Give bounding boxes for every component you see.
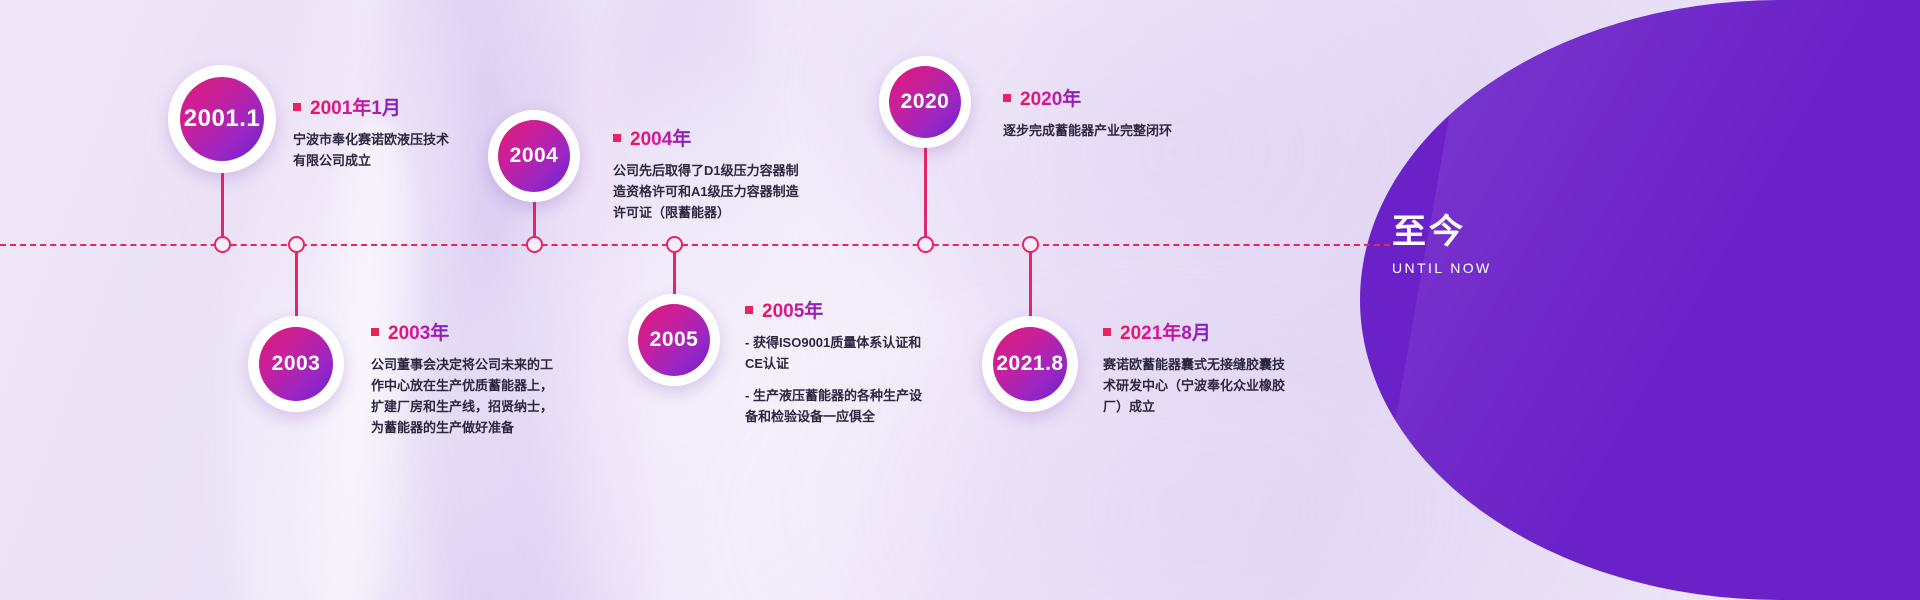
entry-paragraph: 赛诺欧蓄能器囊式无接缝胶囊技术研发中心（宁波奉化众业橡胶厂）成立: [1103, 354, 1293, 417]
entry-body: - 获得ISO9001质量体系认证和CE认证 - 生产液压蓄能器的各种生产设备和…: [745, 332, 933, 427]
entry-title: 2003年: [388, 318, 449, 345]
entry-header: 2003年: [371, 318, 553, 345]
entry-header: 2001年1月: [293, 93, 455, 120]
background-ribbon: [329, 0, 690, 600]
stem-2021: [1029, 248, 1032, 324]
square-bullet-icon: [371, 328, 379, 336]
entry-2004: 2004年 公司先后取得了D1级压力容器制造资格许可和A1级压力容器制造许可证（…: [613, 124, 803, 223]
entry-paragraph: - 生产液压蓄能器的各种生产设备和检验设备一应俱全: [745, 385, 933, 427]
axis-node-2021[interactable]: [1022, 236, 1039, 253]
year-bubble-label: 2021.8: [993, 327, 1067, 401]
square-bullet-icon: [745, 306, 753, 314]
axis-node-2005[interactable]: [666, 236, 683, 253]
entry-2020: 2020年 逐步完成蓄能器产业完整闭环: [1003, 84, 1263, 141]
entry-header: 2021年8月: [1103, 318, 1293, 345]
axis-node-2004[interactable]: [526, 236, 543, 253]
year-bubble-label: 2005: [638, 304, 710, 376]
square-bullet-icon: [293, 103, 301, 111]
entry-header: 2020年: [1003, 84, 1263, 111]
entry-2005: 2005年 - 获得ISO9001质量体系认证和CE认证 - 生产液压蓄能器的各…: [745, 296, 933, 427]
timeline-infographic: 至今 UNTIL NOW 2001.1 2004 2020 2003 2005 …: [0, 0, 1920, 600]
year-bubble-2020[interactable]: 2020: [879, 56, 971, 148]
year-bubble-label: 2001.1: [180, 77, 264, 161]
entry-title: 2020年: [1020, 84, 1081, 111]
stem-2001: [221, 172, 224, 240]
entry-paragraph: 宁波市奉化赛诺欧液压技术有限公司成立: [293, 129, 455, 171]
until-now-panel: [1360, 0, 1920, 600]
year-bubble-label: 2020: [889, 66, 961, 138]
stem-2004: [533, 200, 536, 240]
entry-body: 公司先后取得了D1级压力容器制造资格许可和A1级压力容器制造许可证（限蓄能器）: [613, 160, 803, 223]
entry-paragraph: 逐步完成蓄能器产业完整闭环: [1003, 120, 1263, 141]
square-bullet-icon: [1003, 94, 1011, 102]
year-bubble-label: 2003: [259, 327, 333, 401]
axis-node-2001[interactable]: [214, 236, 231, 253]
entry-title: 2001年1月: [310, 93, 401, 120]
entry-paragraph: 公司董事会决定将公司未来的工作中心放在生产优质蓄能器上，扩建厂房和生产线，招贤纳…: [371, 354, 553, 438]
entry-2003: 2003年 公司董事会决定将公司未来的工作中心放在生产优质蓄能器上，扩建厂房和生…: [371, 318, 553, 438]
entry-header: 2005年: [745, 296, 933, 323]
year-bubble-2003[interactable]: 2003: [248, 316, 344, 412]
square-bullet-icon: [1103, 328, 1111, 336]
entry-title: 2004年: [630, 124, 691, 151]
axis-node-2003[interactable]: [288, 236, 305, 253]
entry-2001: 2001年1月 宁波市奉化赛诺欧液压技术有限公司成立: [293, 93, 455, 171]
entry-body: 逐步完成蓄能器产业完整闭环: [1003, 120, 1263, 141]
until-now-block: 至今 UNTIL NOW: [1392, 214, 1652, 276]
axis-node-2020[interactable]: [917, 236, 934, 253]
square-bullet-icon: [613, 134, 621, 142]
stem-2003: [295, 248, 298, 324]
timeline-axis: [0, 244, 1390, 246]
year-bubble-2001[interactable]: 2001.1: [168, 65, 276, 173]
year-bubble-label: 2004: [498, 120, 570, 192]
entry-paragraph: - 获得ISO9001质量体系认证和CE认证: [745, 332, 933, 374]
background-ribbon: [150, 0, 510, 360]
entry-header: 2004年: [613, 124, 803, 151]
entry-body: 赛诺欧蓄能器囊式无接缝胶囊技术研发中心（宁波奉化众业橡胶厂）成立: [1103, 354, 1293, 417]
stem-2020: [924, 148, 927, 240]
until-now-label-cn: 至今: [1392, 214, 1652, 251]
year-bubble-2005[interactable]: 2005: [628, 294, 720, 386]
year-bubble-2004[interactable]: 2004: [488, 110, 580, 202]
until-now-label-en: UNTIL NOW: [1392, 260, 1652, 276]
entry-body: 宁波市奉化赛诺欧液压技术有限公司成立: [293, 129, 455, 171]
entry-body: 公司董事会决定将公司未来的工作中心放在生产优质蓄能器上，扩建厂房和生产线，招贤纳…: [371, 354, 553, 438]
entry-title: 2021年8月: [1120, 318, 1211, 345]
entry-2021: 2021年8月 赛诺欧蓄能器囊式无接缝胶囊技术研发中心（宁波奉化众业橡胶厂）成立: [1103, 318, 1293, 417]
panel-highlight: [1360, 0, 1903, 600]
entry-paragraph: 公司先后取得了D1级压力容器制造资格许可和A1级压力容器制造许可证（限蓄能器）: [613, 160, 803, 223]
entry-title: 2005年: [762, 296, 823, 323]
year-bubble-2021[interactable]: 2021.8: [982, 316, 1078, 412]
